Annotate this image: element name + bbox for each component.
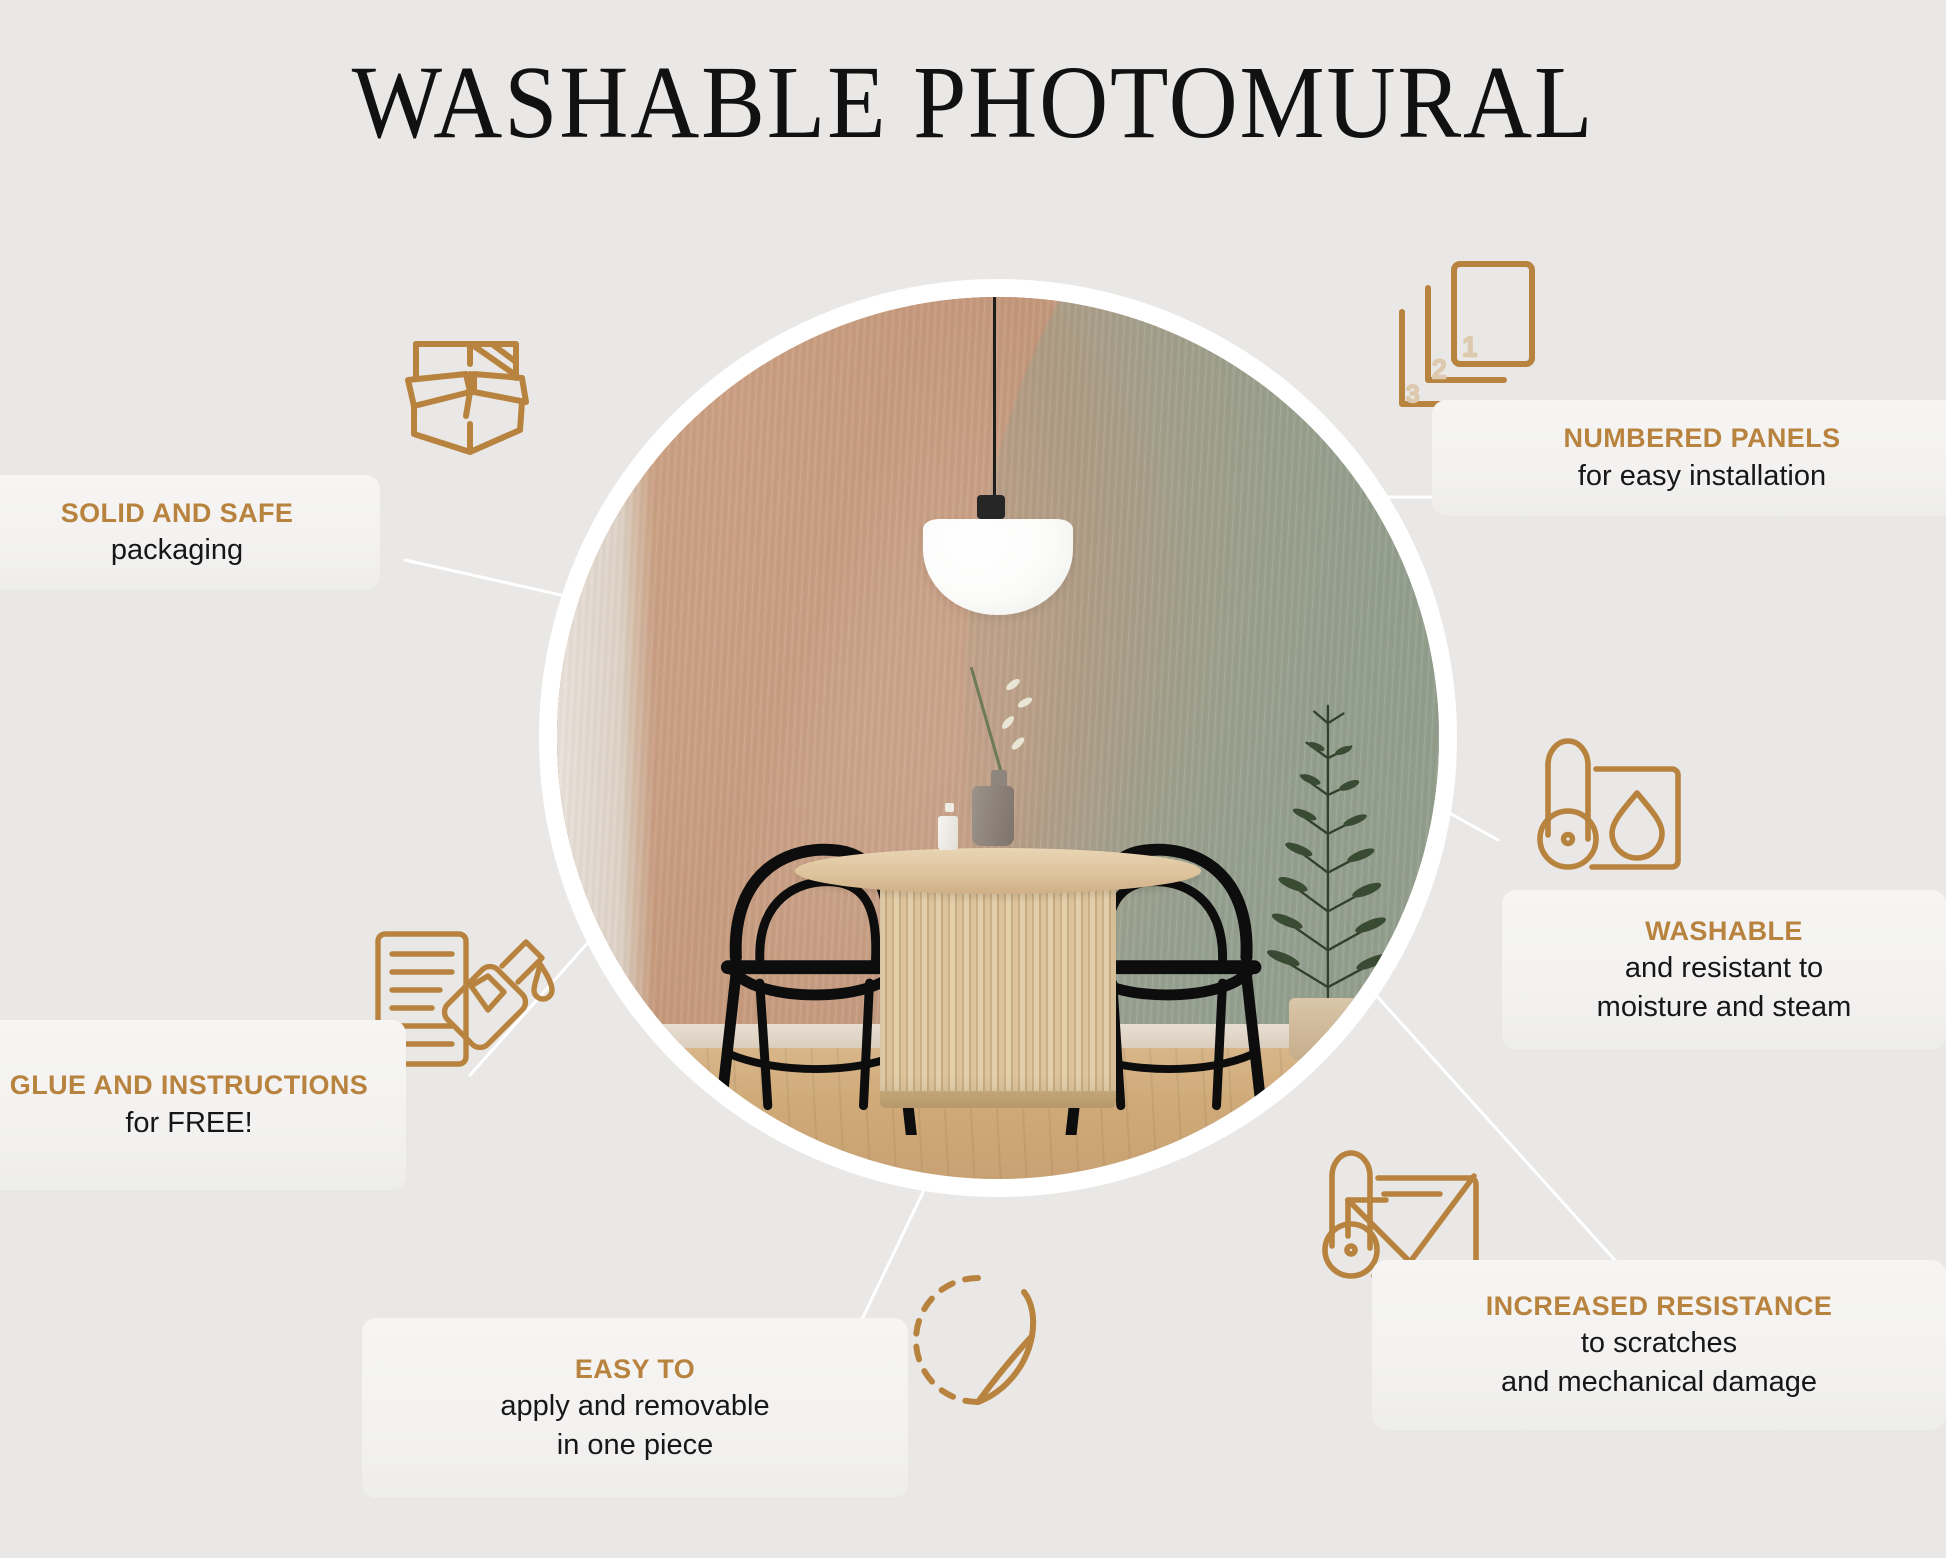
feature-headline: WASHABLE — [1520, 915, 1928, 948]
feature-headline: GLUE AND INSTRUCTIONS — [0, 1069, 388, 1102]
infographic-stage: WASHABLE PHOTOMURAL — [0, 0, 1946, 1558]
feature-subline-1: apply and removable — [380, 1388, 890, 1424]
feature-card-numbered-panels[interactable]: NUMBERED PANELS for easy installation — [1432, 400, 1946, 516]
feature-headline: EASY TO — [380, 1353, 890, 1386]
feature-headline: SOLID AND SAFE — [0, 497, 362, 530]
wallpaper-roll-droplet-icon — [1530, 735, 1700, 875]
numbered-panels-icon: 1 2 3 — [1390, 258, 1570, 418]
table-top — [795, 848, 1201, 894]
feature-subline-1: to scratches — [1390, 1325, 1928, 1361]
small-bottle-cap — [945, 803, 954, 812]
feature-subline: for FREE! — [0, 1105, 388, 1141]
feature-card-glue-and-instructions[interactable]: GLUE AND INSTRUCTIONS for FREE! — [0, 1020, 406, 1190]
hero-photo — [557, 297, 1439, 1179]
panel-number-2: 2 — [1432, 354, 1446, 384]
feature-subline-1: and resistant to — [1520, 950, 1928, 986]
pendant-lamp-cord — [993, 297, 996, 500]
table-pedestal — [880, 883, 1116, 1099]
feature-card-easy-to-apply[interactable]: EASY TO apply and removable in one piece — [362, 1318, 908, 1498]
small-bottle — [938, 816, 958, 850]
feature-headline: INCREASED RESISTANCE — [1390, 1290, 1928, 1323]
feature-subline-2: in one piece — [380, 1427, 890, 1463]
feature-card-increased-resistance[interactable]: INCREASED RESISTANCE to scratches and me… — [1372, 1260, 1946, 1430]
feature-subline-2: moisture and steam — [1520, 989, 1928, 1025]
feature-headline: NUMBERED PANELS — [1450, 422, 1946, 455]
pendant-lamp-cap — [977, 495, 1005, 519]
peeling-sticker-icon — [898, 1272, 1058, 1432]
page-title: WASHABLE PHOTOMURAL — [78, 48, 1868, 157]
feature-card-solid-and-safe[interactable]: SOLID AND SAFE packaging — [0, 475, 380, 590]
feature-card-washable[interactable]: WASHABLE and resistant to moisture and s… — [1502, 890, 1946, 1050]
panel-number-3: 3 — [1406, 381, 1419, 408]
plant-pot — [1289, 998, 1412, 1060]
feature-subline: packaging — [0, 532, 362, 568]
vase — [972, 786, 1014, 846]
hero-photo-circle — [548, 288, 1448, 1188]
feature-subline-2: and mechanical damage — [1390, 1364, 1928, 1400]
feature-subline: for easy installation — [1450, 458, 1946, 494]
panel-number-1: 1 — [1462, 331, 1478, 362]
box-package-icon — [400, 320, 540, 460]
table-pedestal-base — [880, 1091, 1116, 1109]
